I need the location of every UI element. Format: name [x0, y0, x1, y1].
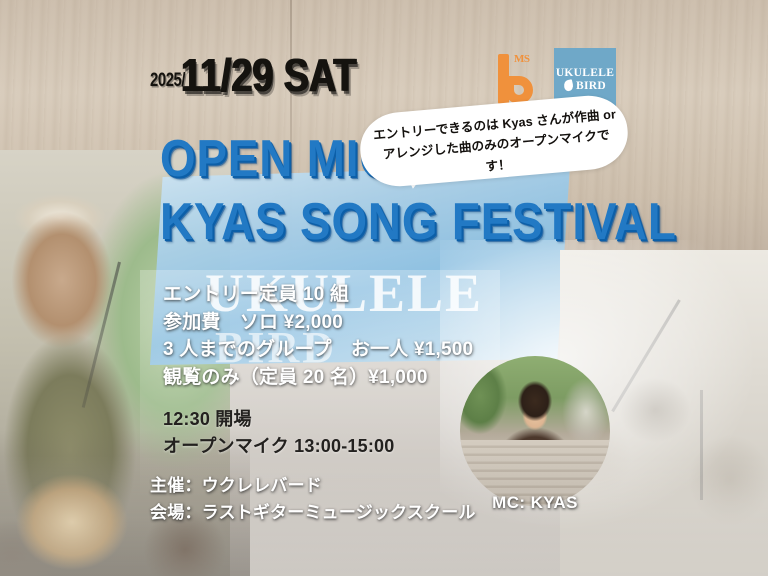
entry-limit-line: エントリー定員 10 組 — [163, 281, 473, 309]
venue-line: 会場：ラストギターミュージックスクール — [150, 500, 476, 527]
mic-stand-pole-shape — [700, 390, 703, 500]
fee-solo-line: 参加費 ソロ ¥2,000 — [163, 309, 473, 337]
mc-name-label: MC: KYAS — [460, 493, 610, 513]
open-mic-time-line: オープンマイク 13:00-15:00 — [163, 433, 394, 460]
event-date: 2025/ 11/29 SAT — [150, 52, 409, 98]
bird-icon — [563, 79, 574, 92]
fee-group-line: 3 人までのグループ お一人 ¥1,500 — [163, 336, 473, 364]
last-guitar-music-school-logo: MS — [496, 50, 540, 108]
host-line: 主催：ウクレレバード — [150, 473, 476, 500]
mc-portrait-photo — [460, 356, 610, 506]
doors-open-line: 12:30 開場 — [163, 406, 394, 433]
logo-ms-text: MS — [514, 53, 530, 65]
schedule-details: 12:30 開場 オープンマイク 13:00-15:00 — [163, 406, 394, 461]
photo-foliage — [460, 356, 518, 440]
ukulele-bird-logo-line1: UKULELE — [556, 67, 614, 79]
title-line-2: KYAS SONG FESTIVAL — [160, 198, 677, 248]
event-day: 11/29 SAT — [180, 52, 355, 98]
fee-audience-line: 観覧のみ（定員 20 名）¥1,000 — [163, 364, 473, 392]
ukulele-bird-logo-line2: BIRD — [576, 80, 606, 92]
organizer-details: 主催：ウクレレバード 会場：ラストギターミュージックスクール — [150, 473, 476, 527]
entry-details: エントリー定員 10 組 参加費 ソロ ¥2,000 3 人までのグループ お一… — [163, 281, 473, 392]
ukulele-bird-logo-line2-row: BIRD — [564, 80, 606, 92]
event-poster: UKULELE BIRD 2025/ 11/29 SAT MS UKULELE … — [0, 0, 768, 576]
